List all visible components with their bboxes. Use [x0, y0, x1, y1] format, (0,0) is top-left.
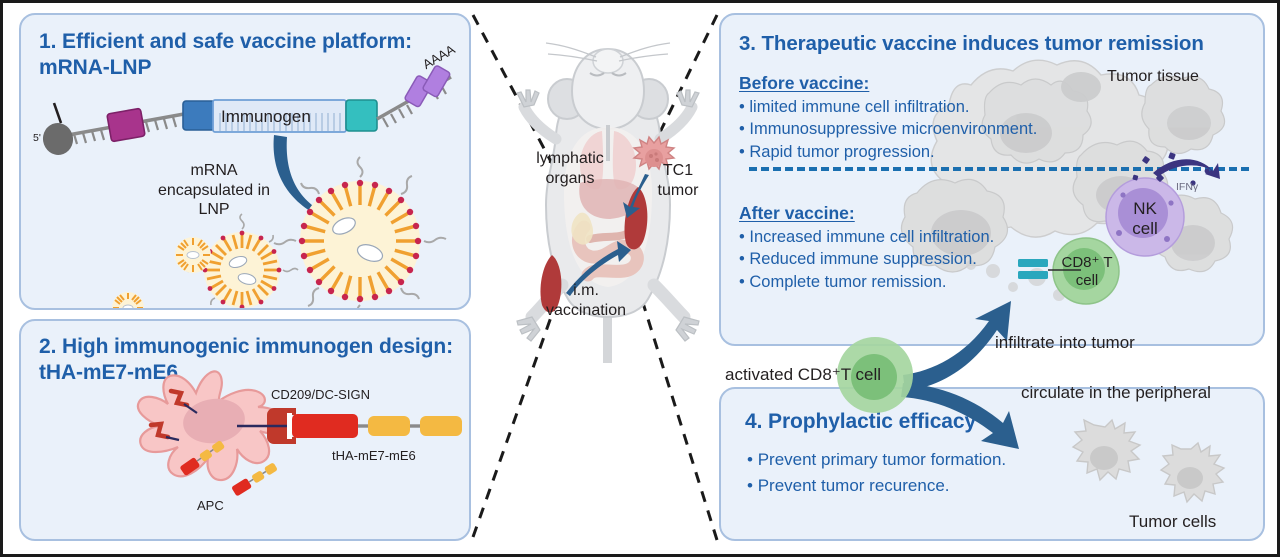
cd209-receptor-icon [237, 408, 296, 444]
after-vaccine-bullets: Increased immune cell infiltration. Redu… [739, 226, 994, 293]
mouse-stomach [571, 213, 593, 245]
lymphatic-organs-label: lymphatic organs [515, 149, 625, 188]
panel1-title: 1. Efficient and safe vaccine platform: … [39, 29, 412, 80]
apc-internalized-construct-1 [179, 439, 225, 476]
mrna-start-box [183, 101, 215, 130]
lnp-particle-small-1 [175, 237, 211, 273]
apc-cell-icon [138, 371, 283, 480]
panel-therapeutic-vaccine: 3. Therapeutic vaccine induces tumor rem… [719, 13, 1265, 346]
mrna-strand-left [57, 114, 184, 146]
panel4-title: 4. Prophylactic efficacy [745, 409, 976, 435]
mrna-5utr-box [107, 108, 145, 141]
after-bullet-2: Reduced immune suppression. [739, 248, 994, 270]
prophylactic-bullets: Prevent primary tumor formation. Prevent… [747, 447, 1006, 498]
panel2-title: 2. High immunogenic immunogen design: tH… [39, 334, 453, 385]
mouse-ear-right [630, 79, 668, 119]
tha-construct-label: tHA-mE7-mE6 [332, 448, 416, 464]
activated-tcell-label: activated CD8⁺T cell [725, 365, 881, 385]
after-bullet-3: Complete tumor remission. [739, 271, 994, 293]
mouse-whiskers [546, 43, 670, 61]
cd8-t-cell-label: CD8⁺ T cell [1051, 254, 1123, 289]
apc-label: APC [197, 498, 224, 514]
prophylactic-bullet-2: Prevent tumor recurence. [747, 473, 1006, 499]
mrna-immunogen-label: Immunogen [221, 107, 311, 127]
prophylactic-bullet-1: Prevent primary tumor formation. [747, 447, 1006, 473]
mrna-cap-icon [40, 103, 75, 157]
lnp-particle-large [274, 157, 446, 310]
nk-cell-label: NK cell [1119, 199, 1171, 239]
me6-domain [420, 416, 462, 436]
cd209-label: CD209/DC-SIGN [271, 387, 370, 403]
me7-domain [368, 416, 410, 436]
circulate-label: circulate in the peripheral [1021, 383, 1211, 403]
im-vaccination-label: i.m. vaccination [530, 281, 642, 320]
after-bullet-1: Increased immune cell infiltration. [739, 226, 994, 248]
mrna-polya-label: AAAA [420, 42, 458, 73]
before-bullet-3: Rapid tumor progression. [739, 141, 1037, 163]
mouse-migration-arrows [566, 174, 649, 296]
tumor-cell-free-2 [1161, 443, 1224, 502]
mrna-5prime-label: 5' [33, 132, 41, 145]
tha-me7-me6-construct-icon [292, 414, 462, 438]
mrna-strand-right [377, 77, 451, 127]
panel-prophylactic-efficacy: 4. Prophylactic efficacy Prevent primary… [719, 387, 1265, 541]
lnp-cargo-mrna [330, 215, 385, 265]
before-after-divider [749, 167, 1249, 171]
before-bullet-2: Immunosuppressive microenvironment. [739, 118, 1037, 140]
dashed-line-right-bottom [643, 303, 717, 540]
figure-canvas: 1. Efficient and safe vaccine platform: … [0, 0, 1280, 557]
dashed-line-left-bottom [473, 303, 556, 537]
tc1-tumor-label: TC1 tumor [643, 161, 713, 200]
lnp-peg-chains [274, 157, 446, 310]
panel-vaccine-platform: 1. Efficient and safe vaccine platform: … [19, 13, 471, 310]
mouse-forelimbs [517, 90, 699, 139]
tha-domain [292, 414, 358, 438]
before-vaccine-bullets: limited immune cell infiltration. Immuno… [739, 96, 1037, 163]
lnp-particle-small-2 [112, 292, 144, 310]
tumor-cell-free-1 [1073, 420, 1140, 480]
infiltrate-label: infiltrate into tumor [995, 333, 1135, 353]
ifng-label: IFNγ [1176, 181, 1198, 194]
after-vaccine-heading: After vaccine: [739, 203, 855, 224]
apc-receptor-stalks [166, 404, 197, 440]
mrna-stop-box [346, 100, 377, 131]
lnp-particle-medium [186, 214, 298, 310]
tumor-tissue-label: Tumor tissue [1107, 67, 1199, 86]
tumor-cells-label: Tumor cells [1129, 512, 1216, 532]
before-vaccine-heading: Before vaccine: [739, 73, 869, 94]
mouse-ear-left [548, 79, 586, 119]
apc-internalized-construct-2 [231, 461, 278, 496]
panel-immunogen-design: 2. High immunogenic immunogen design: tH… [19, 319, 471, 541]
before-bullet-1: limited immune cell infiltration. [739, 96, 1037, 118]
panel3-title: 3. Therapeutic vaccine induces tumor rem… [739, 31, 1204, 56]
mrna-encapsulation-label: mRNA encapsulated in LNP [149, 161, 279, 220]
apc-receptor-icons [151, 391, 187, 437]
mouse-intestines [578, 227, 637, 275]
encapsulation-arrow-icon [274, 135, 343, 229]
mouse-head [572, 49, 644, 129]
